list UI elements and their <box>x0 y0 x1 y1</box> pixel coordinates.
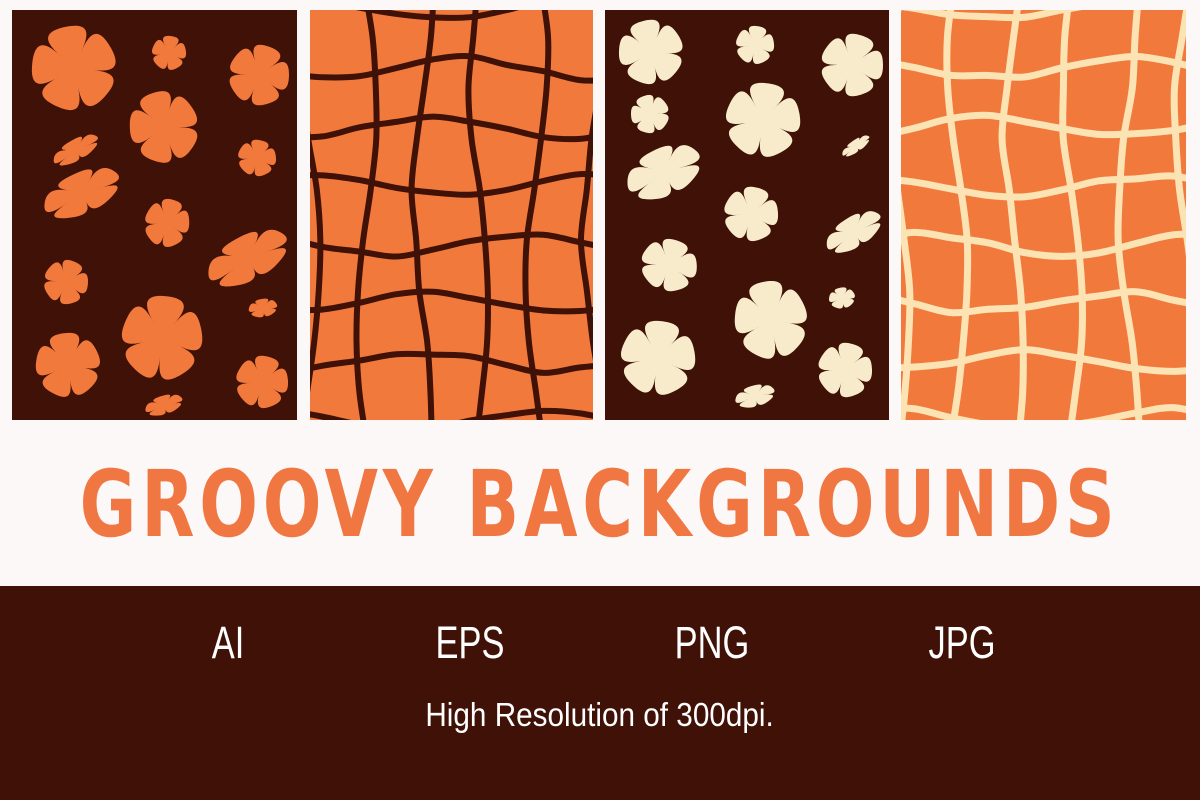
file-format-list: AI EPS PNG JPG <box>0 608 1200 678</box>
format-label-ai: AI <box>179 620 277 665</box>
pattern-panel-flowers-orange[interactable] <box>12 10 297 420</box>
pattern-panel-flowers-cream[interactable] <box>605 10 889 420</box>
footer-bar: AI EPS PNG JPG High Resolution of 300dpi… <box>0 586 1200 800</box>
flower-pattern-cream-svg <box>605 10 889 420</box>
poster-canvas: GROOVY BACKGROUNDS AI EPS PNG JPG High R… <box>0 0 1200 800</box>
wavy-grid-brown-svg <box>310 10 593 420</box>
pattern-panel-grid-cream[interactable] <box>901 10 1186 420</box>
pattern-preview-strip <box>0 0 1200 422</box>
flower-pattern-orange-svg <box>12 10 297 420</box>
page-title: GROOVY BACKGROUNDS <box>80 458 1120 550</box>
format-label-eps: EPS <box>421 620 519 665</box>
wavy-grid-cream-svg <box>901 10 1186 420</box>
resolution-note-text: High Resolution of 300dpi. <box>426 698 774 731</box>
resolution-note: High Resolution of 300dpi. <box>0 698 1200 731</box>
format-label-png: PNG <box>663 620 761 665</box>
pattern-panel-grid-brown[interactable] <box>310 10 593 420</box>
format-label-jpg: JPG <box>913 620 1011 665</box>
title-band: GROOVY BACKGROUNDS <box>0 422 1200 586</box>
